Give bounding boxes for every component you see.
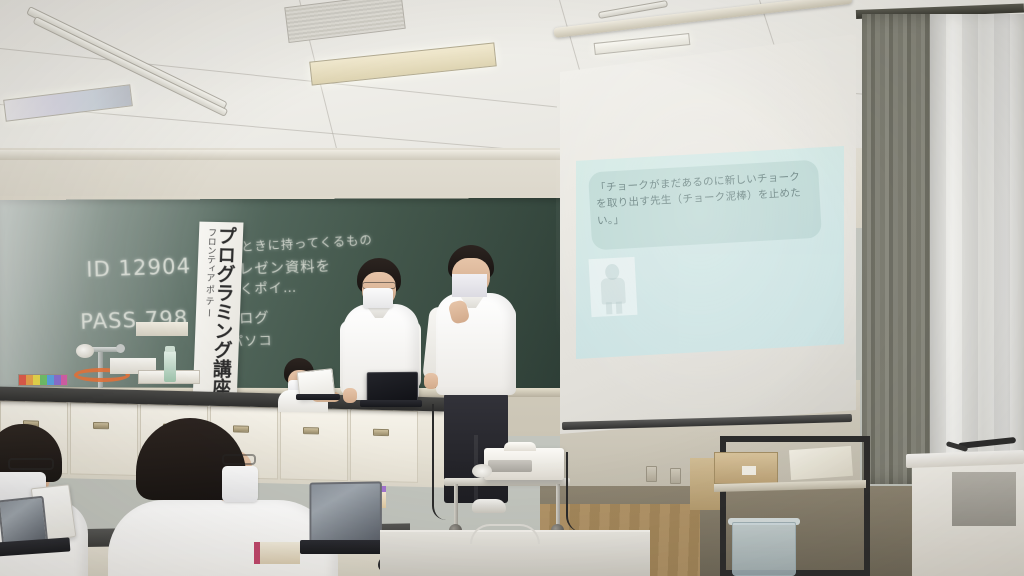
box-label: [742, 466, 756, 475]
glasses: [8, 458, 54, 470]
bench-lamp: [76, 344, 94, 358]
foreground-monitor-cable: [470, 524, 540, 544]
projector-front-panel: [488, 460, 532, 472]
foreground-laptop-right-screen[interactable]: [309, 481, 381, 544]
face-mask: [452, 274, 487, 297]
projector-lens: [472, 464, 492, 478]
trash-bin: [732, 522, 796, 576]
projector-cable: [566, 452, 582, 532]
classroom-photo: ID 12904 PASS 798 発表のときに持ってくるもの ① プレゼン資料…: [0, 0, 1024, 576]
notebook-on-desk: [254, 542, 300, 564]
projection-screen-assembly: 「チョークがまだあるのに新しいチョーク を取り出す先生（チョーク泥棒）を止めた …: [556, 22, 872, 446]
spray-bottle: [164, 350, 176, 382]
power-outlet-2: [670, 468, 681, 484]
hand-left: [343, 388, 357, 403]
ceiling-light-panel-left: [3, 84, 133, 121]
tablet-base: [296, 394, 340, 400]
face-mask: [222, 466, 258, 502]
programming-course-banner: プログラミング講座 フロンティア ポ テ ー: [193, 222, 244, 405]
cart-leg-right: [556, 484, 560, 528]
glasses: [222, 454, 256, 465]
blackboard-id-line: ID 12904: [86, 254, 192, 282]
ceiling-light-panel-right: [309, 42, 496, 85]
black-laptop-base[interactable]: [360, 400, 422, 407]
projected-slide: 「チョークがまだあるのに新しいチョーク を取り出す先生（チョーク泥棒）を止めた …: [576, 146, 844, 359]
cart-leg-left: [454, 484, 458, 528]
ceiling-vent: [284, 0, 406, 43]
lectern-panel: [952, 472, 1016, 526]
shirt: [108, 500, 338, 576]
projection-screen: 「チョークがまだあるのに新しいチョーク を取り出す先生（チョーク泥棒）を止めた …: [560, 34, 856, 434]
paper-stack: [789, 446, 853, 480]
bench-shelf-object: [136, 322, 188, 336]
slide-person-illustration: [589, 257, 638, 317]
shoe: [472, 499, 506, 513]
hand-lowered: [424, 373, 438, 389]
power-cable: [432, 404, 446, 520]
faucet-knob-right[interactable]: [116, 344, 125, 353]
power-outlet-1: [646, 466, 657, 482]
wall-molding: [0, 150, 600, 160]
color-chalk-box: [18, 374, 68, 386]
face-mask: [363, 288, 393, 308]
projector-top-cover: [504, 442, 536, 451]
spray-bottle-cap: [165, 346, 175, 352]
